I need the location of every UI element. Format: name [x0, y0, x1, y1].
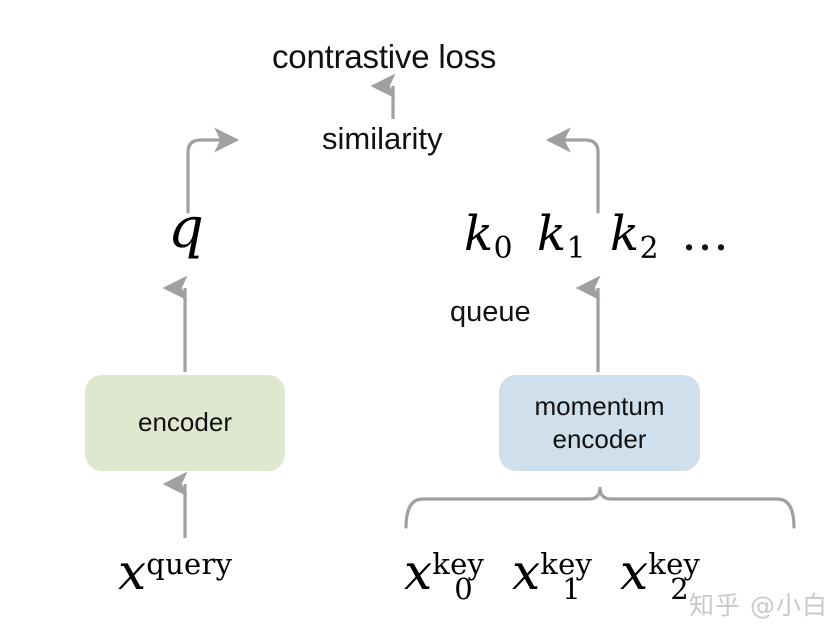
- key-input-2-base: x: [620, 543, 648, 601]
- key-symbol-k2-base: k: [610, 206, 639, 262]
- brace-key-inputs: [406, 487, 794, 527]
- key-symbols-ellipsis: …: [681, 206, 731, 262]
- momentum-encoder-label-line1: momentum: [534, 391, 664, 421]
- momentum-encoder-label-line2: encoder: [553, 424, 647, 454]
- key-symbol-k1-subscript: 1: [567, 231, 586, 266]
- key-symbol-k0-subscript: 0: [494, 231, 513, 266]
- key-input-0-subscript: 0: [454, 572, 472, 606]
- key-symbol-k2-subscript: 2: [640, 231, 659, 266]
- key-input-label-2: xkey2: [620, 543, 689, 606]
- arrow-keys-to-similarity: [549, 140, 598, 212]
- momentum-encoder-box[interactable]: momentumencoder: [499, 375, 700, 471]
- key-input-1-base: x: [512, 543, 540, 601]
- encoder-box[interactable]: encoder: [85, 375, 285, 471]
- key-input-0-base: x: [404, 543, 432, 601]
- key-symbol-k1-base: k: [537, 206, 566, 262]
- key-symbol-k0-base: k: [464, 206, 493, 262]
- key-input-label-0: xkey0: [404, 543, 473, 606]
- query-input-superscript: query: [146, 547, 232, 581]
- query-input-label: xquery: [118, 543, 232, 601]
- query-representation-symbol: q: [168, 196, 204, 261]
- arrow-layer: [0, 0, 826, 634]
- key-input-1-subscript: 1: [562, 572, 580, 606]
- encoder-box-label: encoder: [138, 406, 232, 439]
- similarity-label: similarity: [322, 121, 443, 157]
- zhihu-watermark: 知乎 @小白: [689, 586, 826, 622]
- contrastive-loss-label: contrastive loss: [272, 38, 496, 76]
- key-symbol-k0: k0: [464, 206, 513, 266]
- queue-label: queue: [450, 296, 531, 329]
- moco-architecture-diagram: contrastive loss similarity q k0 k1 k2 ……: [0, 0, 826, 634]
- key-symbol-k2: k2: [610, 206, 659, 266]
- key-symbol-k1: k1: [537, 206, 586, 266]
- momentum-encoder-box-label: momentumencoder: [534, 390, 664, 457]
- key-input-label-1: xkey1: [512, 543, 581, 606]
- query-input-base: x: [118, 543, 146, 601]
- key-input-2-subscript: 2: [670, 572, 688, 606]
